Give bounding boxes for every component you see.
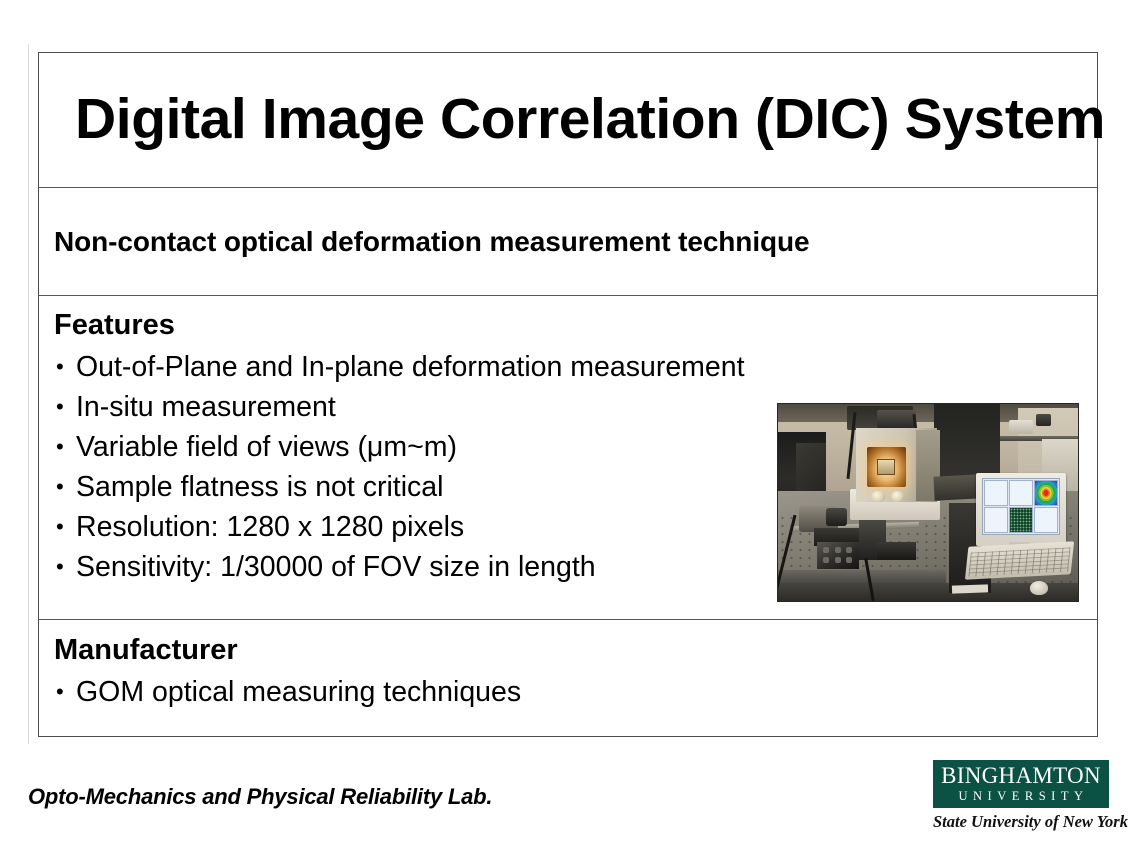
slide: Digital Image Correlation (DIC) System N…	[0, 0, 1136, 852]
logo-university-label: UNIVERSITY	[933, 789, 1109, 804]
photo-monitor-screen	[982, 478, 1060, 535]
logo-tagline: State University of New York	[933, 812, 1109, 832]
photo-paper	[952, 585, 988, 594]
photo-lens-barrel	[826, 508, 847, 526]
logo-green-box: BINGHAMTON UNIVERSITY	[933, 760, 1109, 808]
binghamton-university-logo: BINGHAMTON UNIVERSITY State University o…	[933, 760, 1109, 836]
features-row: Features Out-of-Plane and In-plane defor…	[39, 295, 1097, 619]
photo-fixture-hole	[846, 557, 852, 563]
features-heading: Features	[54, 307, 1097, 343]
photo-fixture-block	[817, 542, 859, 570]
photo-keyboard-keys	[968, 547, 1070, 576]
photo-rear-box	[1009, 420, 1033, 434]
photo-top-fixture-2	[877, 410, 916, 428]
photo-table-front	[778, 570, 946, 584]
photo-screen-pane	[984, 507, 1008, 533]
photo-test-sample	[877, 459, 895, 475]
photo-fixture-hole	[823, 557, 829, 563]
photo-fixture-hole	[835, 557, 841, 563]
list-item: GOM optical measuring techniques	[54, 672, 1097, 712]
photo-chamber-knob	[871, 491, 885, 503]
photo-mouse	[1030, 581, 1048, 595]
dic-system-photo	[777, 403, 1079, 602]
photo-strain-contour-plot	[1034, 480, 1058, 506]
photo-fixture-hole	[835, 547, 841, 553]
title-row: Digital Image Correlation (DIC) System	[39, 53, 1097, 187]
subtitle-text: Non-contact optical deformation measurem…	[54, 226, 809, 258]
photo-screen-pane	[1009, 480, 1033, 506]
photo-fixture-hole	[846, 547, 852, 553]
footer-lab-name: Opto-Mechanics and Physical Reliability …	[28, 784, 492, 810]
manufacturer-row: Manufacturer GOM optical measuring techn…	[39, 619, 1097, 736]
slide-left-edge	[28, 44, 29, 744]
photo-screen-pane	[1034, 507, 1058, 533]
logo-wordmark: BINGHAMTON	[933, 760, 1109, 789]
manufacturer-heading: Manufacturer	[54, 632, 1097, 668]
list-item: Out-of-Plane and In-plane deformation me…	[54, 347, 1097, 387]
content-table: Digital Image Correlation (DIC) System N…	[38, 52, 1098, 737]
photo-fixture-hole	[823, 547, 829, 553]
photo-screen-pane	[984, 480, 1008, 506]
subtitle-row: Non-contact optical deformation measurem…	[39, 187, 1097, 295]
page-title: Digital Image Correlation (DIC) System	[75, 90, 1077, 150]
photo-base-plate	[877, 542, 916, 560]
photo-rear-instrument	[1036, 414, 1051, 426]
photo-speckle-image	[1009, 507, 1033, 533]
manufacturer-bullet-list: GOM optical measuring techniques	[54, 672, 1097, 712]
photo-rear-panel	[934, 404, 1000, 483]
manufacturer-body: Manufacturer GOM optical measuring techn…	[54, 632, 1097, 712]
